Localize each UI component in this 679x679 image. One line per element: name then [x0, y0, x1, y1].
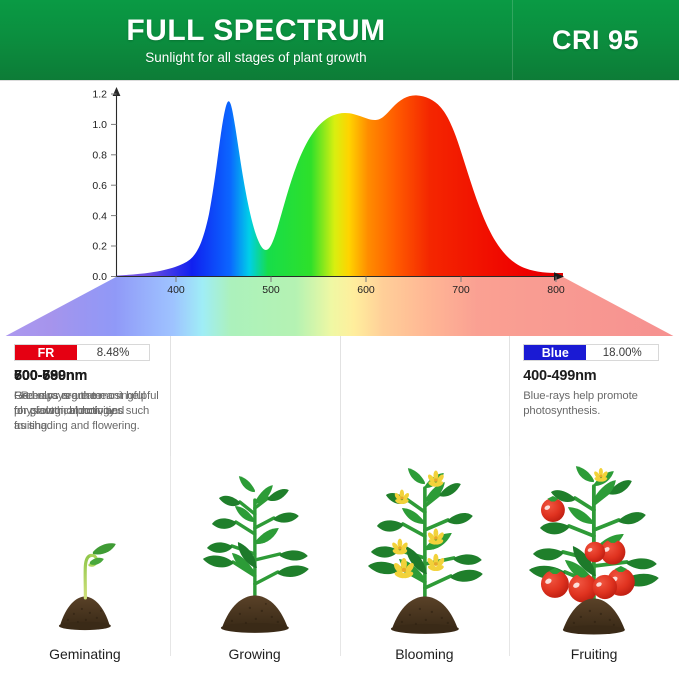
stage-label: Geminating: [0, 645, 170, 663]
band-description: Blue-rays help promote photosynthesis.: [523, 389, 669, 419]
header-left-section: FULL SPECTRUM Sunlight for all stages of…: [0, 0, 512, 80]
x-tick-label: 700: [452, 284, 470, 296]
y-tick-label: 0.4: [92, 210, 107, 222]
seedling-icon: [0, 456, 170, 646]
waveband-card-blue: Blue 18.00% 400-499nm Blue-rays help pro…: [509, 336, 679, 456]
badge-row: Blue 18.00%: [523, 344, 659, 361]
band-range: 700-780nm: [14, 368, 156, 385]
spectrum-chart: 0.0 0.2 0.4 0.6 0.8 1.0 1.2 400 500 600: [0, 81, 679, 336]
x-tick-label: 800: [547, 284, 565, 296]
y-tick-label: 0.8: [92, 150, 107, 162]
band-percent: 18.00%: [586, 345, 658, 360]
band-percent: 8.48%: [77, 345, 149, 360]
spectrum-chart-svg: 0.0 0.2 0.4 0.6 0.8 1.0 1.2 400 500 600: [0, 81, 679, 336]
band-range: 400-499nm: [523, 368, 665, 385]
card-divider: [170, 336, 171, 456]
cri-badge: CRI 95: [552, 25, 639, 56]
y-axis-tick-labels: 0.0 0.2 0.4 0.6 0.8 1.0 1.2: [92, 89, 107, 284]
page-subtitle: Sunlight for all stages of plant growth: [145, 49, 366, 67]
x-tick-label: 400: [167, 284, 185, 296]
stage-label: Blooming: [340, 645, 510, 663]
y-axis-arrow: [113, 87, 121, 96]
stage-blooming: Blooming: [340, 456, 510, 679]
stage-geminating: Geminating: [0, 456, 170, 679]
card-divider: [340, 336, 341, 456]
flowering-plant-icon: [340, 456, 510, 646]
spectral-power-curve: [116, 95, 563, 276]
stage-label: Fruiting: [509, 645, 679, 663]
waveband-cards: Blue 18.00% 400-499nm Blue-rays help pro…: [0, 336, 679, 456]
leafy-plant-icon: [170, 456, 340, 646]
y-tick-label: 1.0: [92, 119, 107, 131]
header-right-section: CRI 95: [512, 0, 679, 80]
stage-fruiting: Fruiting: [509, 456, 679, 679]
growth-stages: Geminating: [0, 456, 679, 679]
stage-label: Growing: [170, 645, 340, 663]
header-banner: FULL SPECTRUM Sunlight for all stages of…: [0, 0, 679, 80]
band-name-badge: Blue: [524, 345, 586, 360]
rainbow-triangle: [0, 277, 679, 336]
band-description: FR helps regulate physiological activiti…: [14, 389, 160, 434]
x-tick-label: 500: [262, 284, 280, 296]
band-name-badge: FR: [15, 345, 77, 360]
y-tick-label: 1.2: [92, 89, 107, 101]
y-axis-ticks: [111, 94, 117, 277]
spectrum-infographic: FULL SPECTRUM Sunlight for all stages of…: [0, 0, 679, 679]
y-tick-label: 0.2: [92, 241, 107, 253]
y-tick-label: 0.0: [92, 271, 107, 283]
badge-row: FR 8.48%: [14, 344, 150, 361]
x-tick-label: 600: [357, 284, 375, 296]
stage-growing: Growing: [170, 456, 340, 679]
fruiting-plant-icon: [509, 456, 679, 646]
y-tick-label: 0.6: [92, 180, 107, 192]
page-title: FULL SPECTRUM: [126, 14, 385, 48]
waveband-card-fr: FR 8.48% 700-780nm FR helps regulate phy…: [0, 336, 170, 456]
